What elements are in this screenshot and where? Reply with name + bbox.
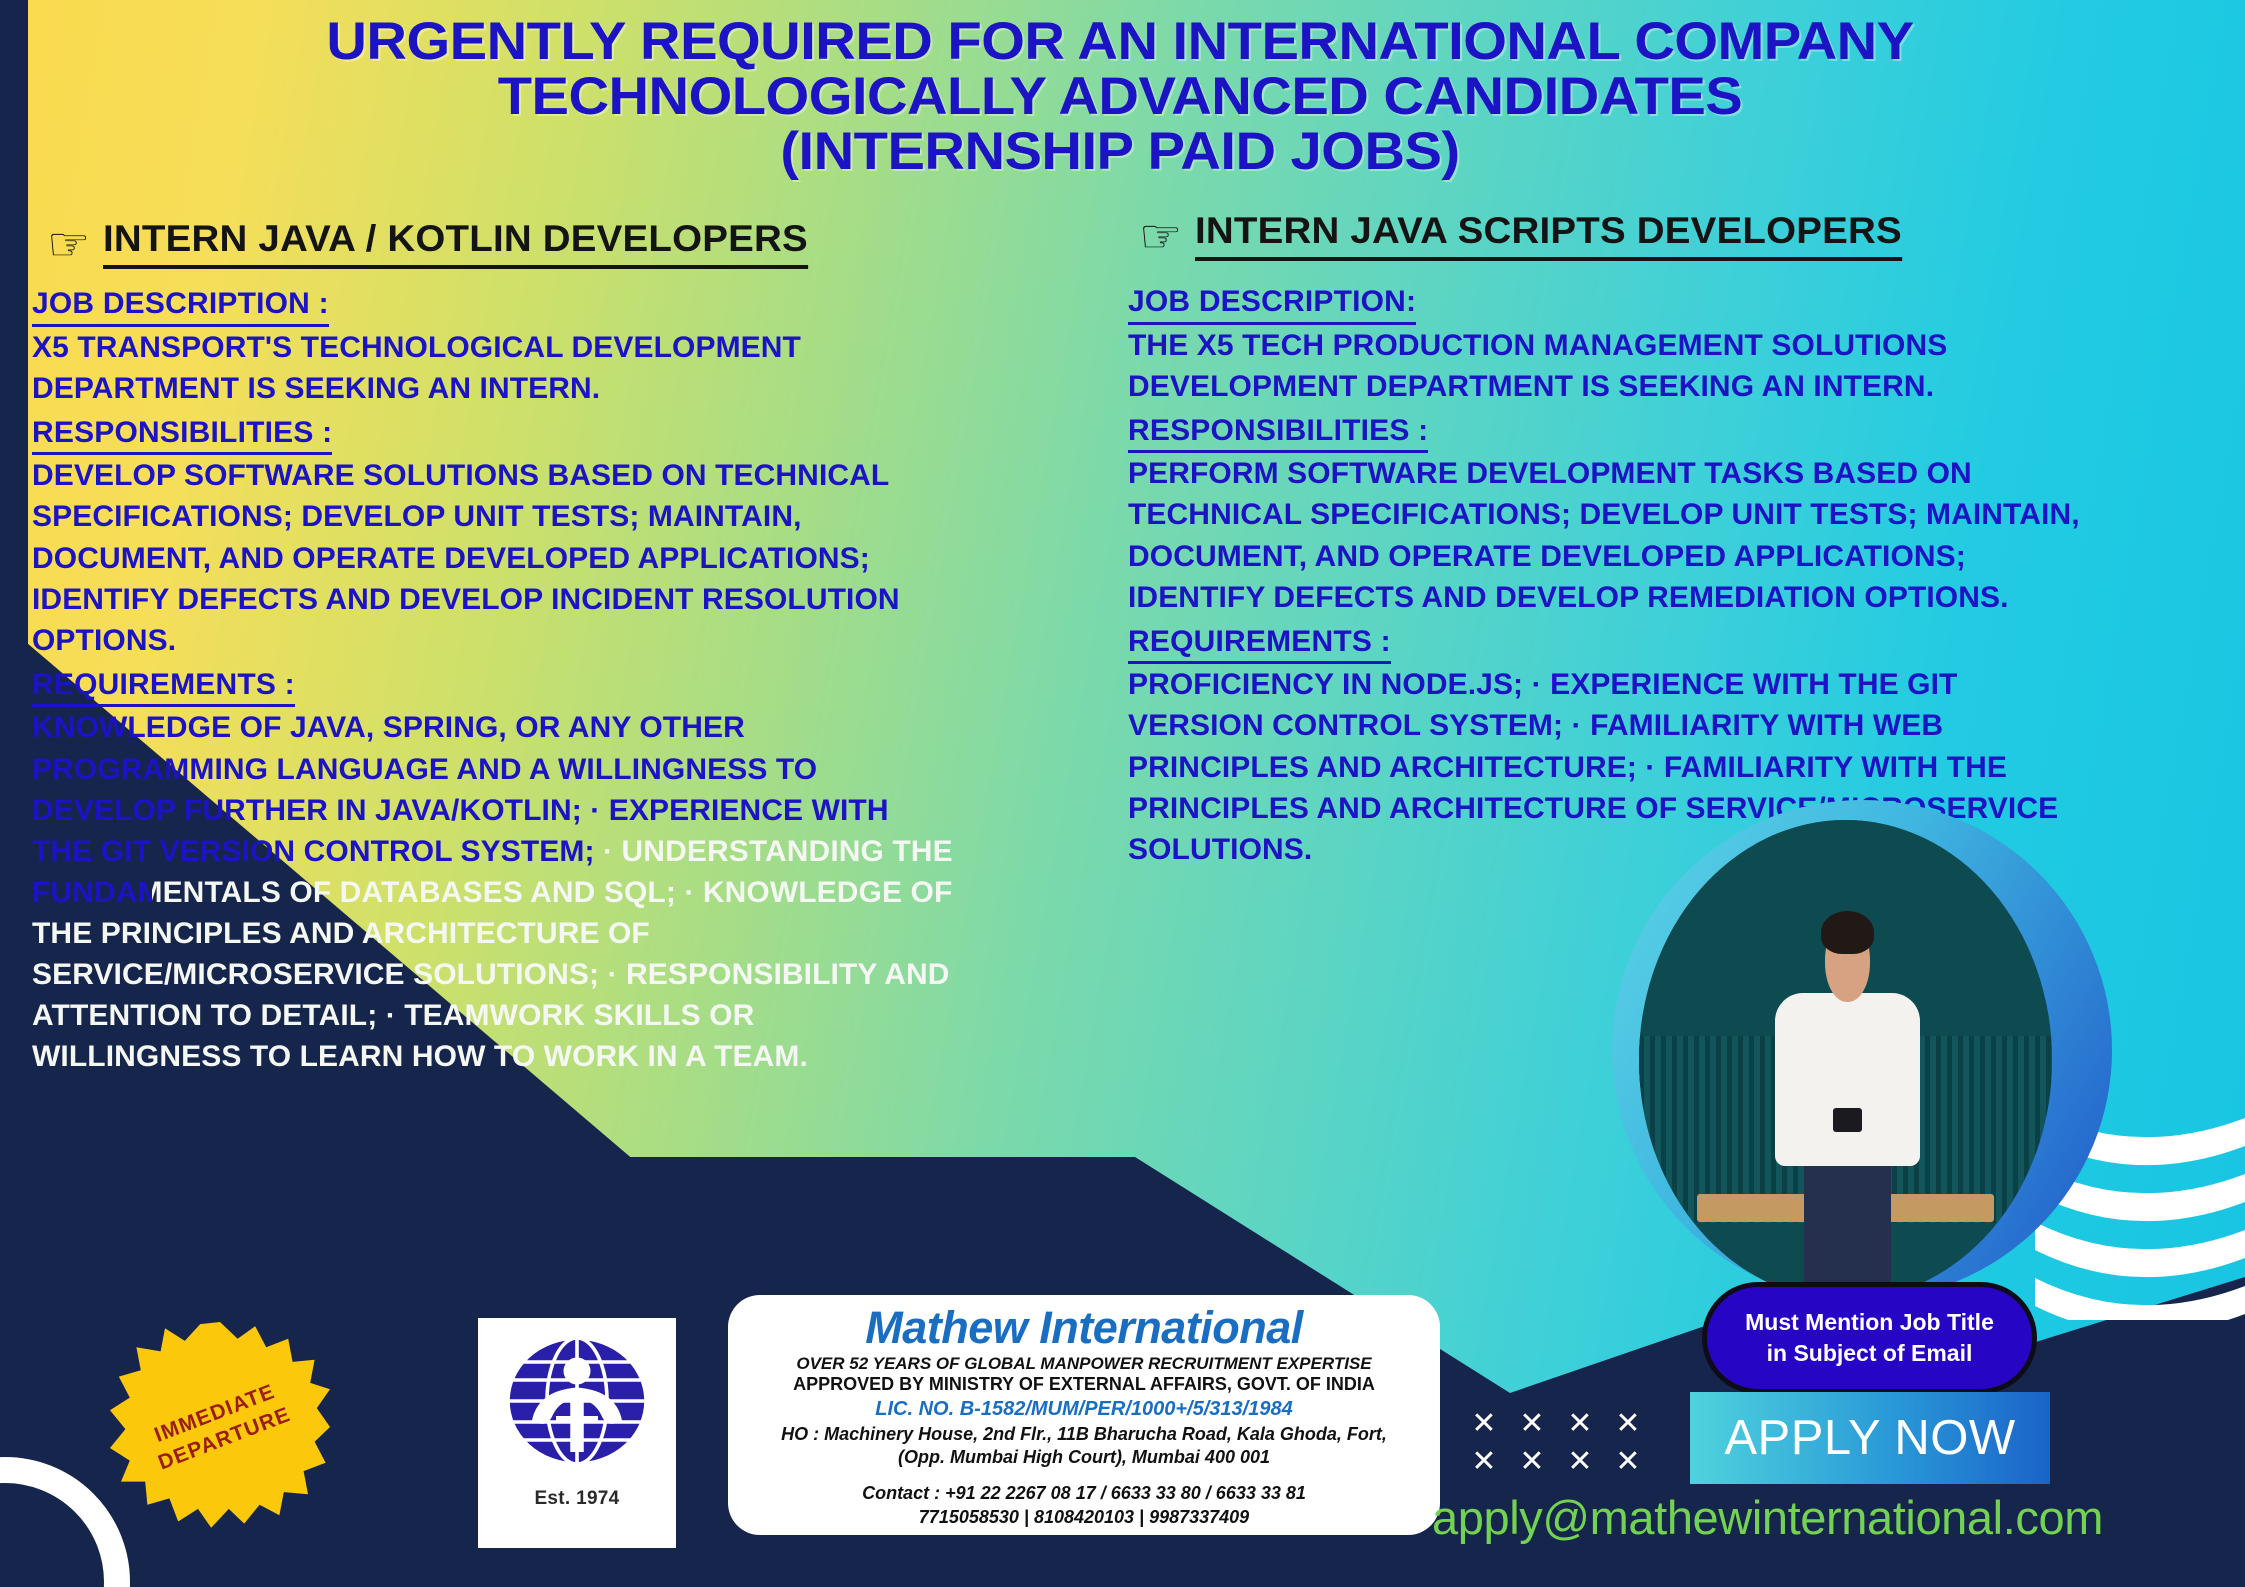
apply-now-label: APPLY NOW	[1724, 1410, 2015, 1466]
left-job-body: JOB DESCRIPTION : X5 TRANSPORT'S TECHNOL…	[32, 280, 1122, 1077]
photo-frame	[1639, 820, 2052, 1300]
right-responsibilities-text: PERFORM SOFTWARE DEVELOPMENT TASKS BASED…	[1128, 453, 2218, 617]
text-line: THE GIT VERSION CONTROL SYSTEM; · UNDERS…	[32, 831, 1122, 872]
text-line: SERVICE/MICROSERVICE SOLUTIONS; · RESPON…	[32, 954, 1122, 995]
company-approval: APPROVED BY MINISTRY OF EXTERNAL AFFAIRS…	[744, 1374, 1424, 1396]
apply-email-address[interactable]: apply@mathewinternational.com	[1432, 1490, 2103, 1545]
company-contact-card: Mathew International OVER 52 YEARS OF GL…	[728, 1295, 1440, 1535]
text-line: PROFICIENCY IN NODE.JS; · EXPERIENCE WIT…	[1128, 664, 2218, 705]
headline-line-2: TECHNOLOGICALLY ADVANCED CANDIDATES	[0, 69, 2244, 124]
text-line: OPTIONS.	[32, 620, 1122, 661]
company-license: LIC. NO. B-1582/MUM/PER/1000+/5/313/1984	[744, 1396, 1424, 1423]
photo-scene	[1639, 820, 2052, 1300]
left-job-description-label: JOB DESCRIPTION :	[32, 284, 329, 327]
text-line: VERSION CONTROL SYSTEM; · FAMILIARITY WI…	[1128, 705, 2218, 746]
left-requirements-text: KNOWLEDGE OF JAVA, SPRING, OR ANY OTHER …	[32, 707, 1122, 1077]
text-line: WILLINGNESS TO LEARN HOW TO WORK IN A TE…	[32, 1036, 1122, 1077]
headline-line-1: URGENTLY REQUIRED FOR AN INTERNATIONAL C…	[0, 14, 2244, 69]
company-logo-box: Est. 1974	[478, 1318, 676, 1548]
text-line: PROGRAMMING LANGUAGE AND A WILLINGNESS T…	[32, 749, 1122, 790]
text-line: PERFORM SOFTWARE DEVELOPMENT TASKS BASED…	[1128, 453, 2218, 494]
right-job-description-label: JOB DESCRIPTION:	[1128, 282, 1416, 325]
photo-person-shirt	[1775, 993, 1920, 1166]
text-line: DEVELOP FURTHER IN JAVA/KOTLIN; · EXPERI…	[32, 790, 1122, 831]
right-job-header: ☞ INTERN JAVA SCRIPTS DEVELOPERS	[1140, 210, 1875, 261]
headline-line-3: (INTERNSHIP PAID JOBS)	[0, 124, 2244, 179]
text-line: THE X5 TECH PRODUCTION MANAGEMENT SOLUTI…	[1128, 325, 2218, 366]
right-job-description-text: THE X5 TECH PRODUCTION MANAGEMENT SOLUTI…	[1128, 325, 2218, 407]
candidate-photo	[1612, 800, 2112, 1300]
company-contact-line-2: 7715058530 | 8108420103 | 9987337409	[744, 1506, 1424, 1529]
left-job-title: INTERN JAVA / KOTLIN DEVELOPERS	[103, 218, 808, 269]
star-badge-text: IMMEDIATE DEPARTURE	[80, 1290, 361, 1565]
right-job-body: JOB DESCRIPTION: THE X5 TECH PRODUCTION …	[1128, 278, 2218, 870]
left-responsibilities-text: DEVELOP SOFTWARE SOLUTIONS BASED ON TECH…	[32, 455, 1122, 660]
company-contact-line-1: Contact : +91 22 2267 08 17 / 6633 33 80…	[744, 1482, 1424, 1505]
text-line: ATTENTION TO DETAIL; · TEAMWORK SKILLS O…	[32, 995, 1122, 1036]
recruitment-poster: ✕✕✕✕ ✕✕✕✕ URGENTLY REQUIRED FOR AN INTER…	[0, 0, 2245, 1587]
company-address-line-2: (Opp. Mumbai High Court), Mumbai 400 001	[744, 1446, 1424, 1469]
company-address-line-1: HO : Machinery House, 2nd Flr., 11B Bhar…	[744, 1423, 1424, 1446]
text-line: TECHNICAL SPECIFICATIONS; DEVELOP UNIT T…	[1128, 494, 2218, 535]
text-line: DEVELOPMENT DEPARTMENT IS SEEKING AN INT…	[1128, 366, 2218, 407]
apply-now-button[interactable]: APPLY NOW	[1690, 1392, 2050, 1484]
logo-established-text: Est. 1974	[534, 1488, 619, 1510]
immediate-departure-badge: IMMEDIATE DEPARTURE	[110, 1322, 330, 1532]
left-job-description-text: X5 TRANSPORT'S TECHNOLOGICAL DEVELOPMENT…	[32, 327, 1122, 409]
right-responsibilities-label: RESPONSIBILITIES :	[1128, 411, 1428, 454]
text-line: PRINCIPLES AND ARCHITECTURE; · FAMILIARI…	[1128, 747, 2218, 788]
text-line: DOCUMENT, AND OPERATE DEVELOPED APPLICAT…	[32, 538, 1122, 579]
text-line: SPECIFICATIONS; DEVELOP UNIT TESTS; MAIN…	[32, 496, 1122, 537]
photo-person-hair	[1821, 911, 1875, 954]
text-line: DEVELOP SOFTWARE SOLUTIONS BASED ON TECH…	[32, 455, 1122, 496]
photo-person-phone	[1833, 1108, 1862, 1132]
page-title: URGENTLY REQUIRED FOR AN INTERNATIONAL C…	[0, 14, 2244, 179]
company-name: Mathew International	[744, 1303, 1424, 1353]
company-logo-icon	[502, 1326, 652, 1476]
text-line: FUNDAMENTALS OF DATABASES AND SQL; · KNO…	[32, 872, 1122, 913]
photo-person-legs	[1804, 1146, 1891, 1300]
pointing-hand-icon: ☞	[1139, 213, 1182, 259]
mention-line-1: Must Mention Job Title	[1745, 1307, 1994, 1338]
text-line: X5 TRANSPORT'S TECHNOLOGICAL DEVELOPMENT	[32, 327, 1122, 368]
text-line: THE PRINCIPLES AND ARCHITECTURE OF	[32, 913, 1122, 954]
pointing-hand-icon: ☞	[47, 221, 90, 267]
mention-line-2: in Subject of Email	[1767, 1338, 1973, 1369]
text-line: KNOWLEDGE OF JAVA, SPRING, OR ANY OTHER	[32, 707, 1122, 748]
text-line: DOCUMENT, AND OPERATE DEVELOPED APPLICAT…	[1128, 536, 2218, 577]
x-pattern-decoration: ✕✕✕✕ ✕✕✕✕	[1460, 1405, 1652, 1481]
text-line: IDENTIFY DEFECTS AND DEVELOP INCIDENT RE…	[32, 579, 1122, 620]
text-line: IDENTIFY DEFECTS AND DEVELOP REMEDIATION…	[1128, 577, 2218, 618]
right-job-title: INTERN JAVA SCRIPTS DEVELOPERS	[1195, 210, 1902, 261]
must-mention-job-title-badge: Must Mention Job Title in Subject of Ema…	[1702, 1282, 2037, 1394]
text-line: DEPARTMENT IS SEEKING AN INTERN.	[32, 368, 1122, 409]
company-tagline: OVER 52 YEARS OF GLOBAL MANPOWER RECRUIT…	[744, 1353, 1424, 1374]
left-job-header: ☞ INTERN JAVA / KOTLIN DEVELOPERS	[48, 218, 781, 269]
left-responsibilities-label: RESPONSIBILITIES :	[32, 413, 332, 456]
left-requirements-label: REQUIREMENTS :	[32, 665, 295, 708]
right-requirements-label: REQUIREMENTS :	[1128, 622, 1391, 665]
